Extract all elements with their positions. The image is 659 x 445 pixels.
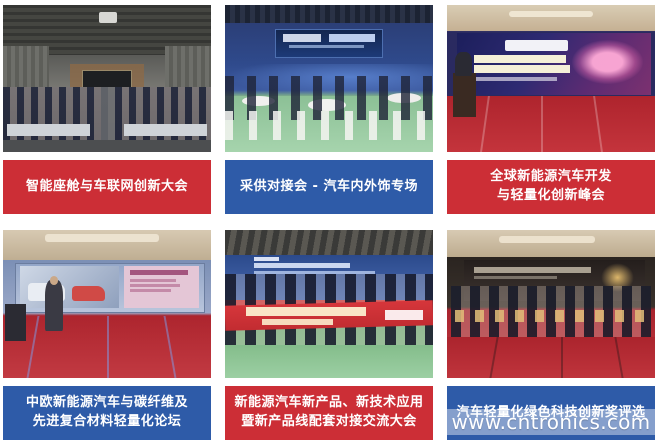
photo-scene-matchmaking-area: [225, 5, 433, 152]
card-caption-text-6: 汽车轻量化绿色科技创新奖评选: [456, 404, 645, 423]
card-caption-4: 中欧新能源汽车与碳纤维及 先进复合材料轻量化论坛: [3, 386, 211, 440]
event-photo-glev-2021-summit-stage[interactable]: [447, 5, 655, 152]
card-caption-2: 采供对接会 - 汽车内外饰专场: [225, 160, 433, 214]
card-caption-line1-5: 新能源汽车新产品、新技术应用: [234, 395, 423, 410]
gallery-card-2[interactable]: 采供对接会 - 汽车内外饰专场: [225, 5, 433, 214]
event-photo-conference-hall-audience[interactable]: [3, 5, 211, 152]
card-caption-1: 智能座舱与车联网创新大会: [3, 160, 211, 214]
card-caption-6: 汽车轻量化绿色科技创新奖评选: [447, 386, 655, 440]
card-caption-text-5: 新能源汽车新产品、新技术应用 暨新产品线配套对接交流大会: [234, 394, 423, 432]
event-photo-gallery: 智能座舱与车联网创新大会 采供对接会 - 汽车内外饰专场: [0, 0, 659, 445]
card-caption-line2-4: 先进复合材料轻量化论坛: [33, 414, 182, 429]
gallery-card-3[interactable]: 全球新能源汽车开发 与轻量化创新峰会: [447, 5, 655, 214]
card-caption-text-1: 智能座舱与车联网创新大会: [26, 178, 188, 197]
event-photo-speaker-on-stage[interactable]: [3, 230, 211, 378]
photo-scene-speaker-pink-slide: [3, 230, 211, 378]
card-caption-text-2: 采供对接会 - 汽车内外饰专场: [240, 178, 418, 197]
event-photo-award-group[interactable]: [447, 230, 655, 378]
card-caption-3: 全球新能源汽车开发 与轻量化创新峰会: [447, 160, 655, 214]
event-photo-matchmaking-meeting-area[interactable]: [225, 5, 433, 152]
card-caption-5: 新能源汽车新产品、新技术应用 暨新产品线配套对接交流大会: [225, 386, 433, 440]
card-caption-line2-3: 与轻量化创新峰会: [497, 188, 605, 203]
gallery-card-1[interactable]: 智能座舱与车联网创新大会: [3, 5, 211, 214]
gallery-card-6[interactable]: 汽车轻量化绿色科技创新奖评选 www.cntronics.com: [447, 230, 655, 440]
card-caption-line2-5: 暨新产品线配套对接交流大会: [241, 414, 417, 429]
photo-scene-award-ceremony: [447, 230, 655, 378]
gallery-card-4[interactable]: 中欧新能源汽车与碳纤维及 先进复合材料轻量化论坛: [3, 230, 211, 440]
card-caption-line1-3: 全球新能源汽车开发: [490, 169, 612, 184]
gallery-card-5[interactable]: 新能源汽车新产品、新技术应用 暨新产品线配套对接交流大会: [225, 230, 433, 440]
card-caption-text-3: 全球新能源汽车开发 与轻量化创新峰会: [490, 168, 612, 206]
card-caption-text-4: 中欧新能源汽车与碳纤维及 先进复合材料轻量化论坛: [26, 394, 188, 432]
photo-scene-ribbon-group-photo: [225, 230, 433, 378]
event-photo-ribbon-group[interactable]: [225, 230, 433, 378]
photo-scene-glev-summit: [447, 5, 655, 152]
card-caption-line1-4: 中欧新能源汽车与碳纤维及: [26, 395, 188, 410]
photo-scene-conference-hall: [3, 5, 211, 152]
